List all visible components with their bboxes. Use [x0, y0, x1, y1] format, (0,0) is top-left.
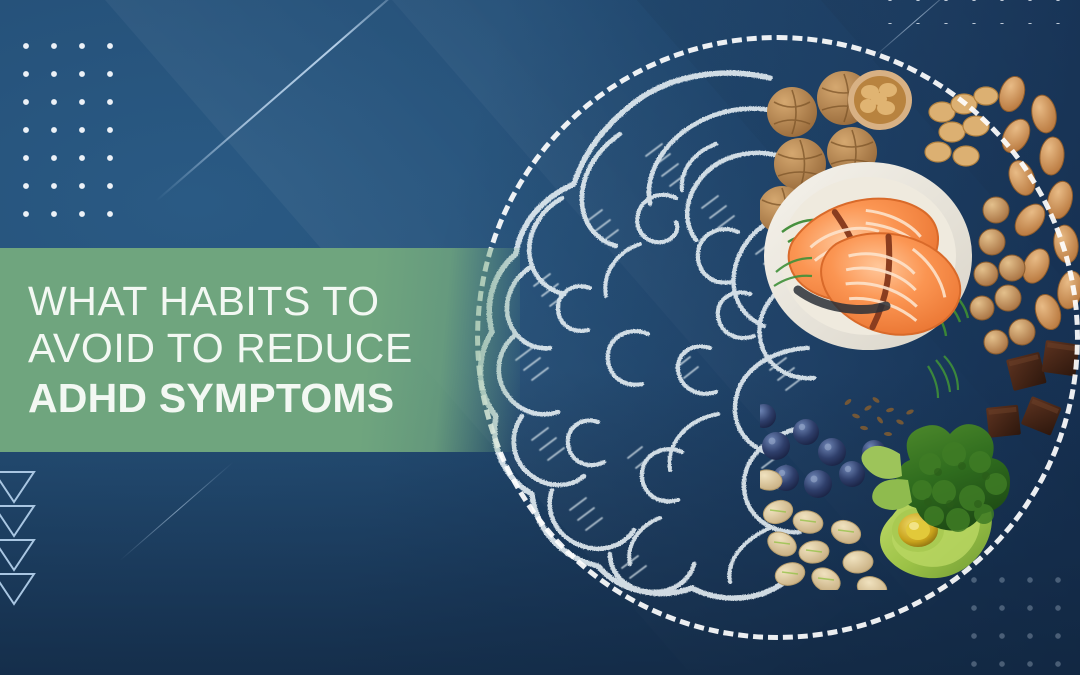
title-line-1: WHAT HABITS TO [28, 278, 520, 325]
title-line-2: AVOID TO REDUCE [28, 325, 520, 372]
title-block: WHAT HABITS TO AVOID TO REDUCE ADHD SYMP… [28, 278, 520, 422]
triangle-stack [0, 470, 36, 615]
title-banner: WHAT HABITS TO AVOID TO REDUCE ADHD SYMP… [0, 248, 520, 452]
triangle-down-icon [0, 470, 36, 610]
banner-graphic: WHAT HABITS TO AVOID TO REDUCE ADHD SYMP… [0, 0, 1080, 675]
illustration-area [430, 0, 1080, 675]
dashed-circle-icon [475, 35, 1080, 640]
title-emphasis: ADHD SYMPTOMS [28, 375, 520, 422]
